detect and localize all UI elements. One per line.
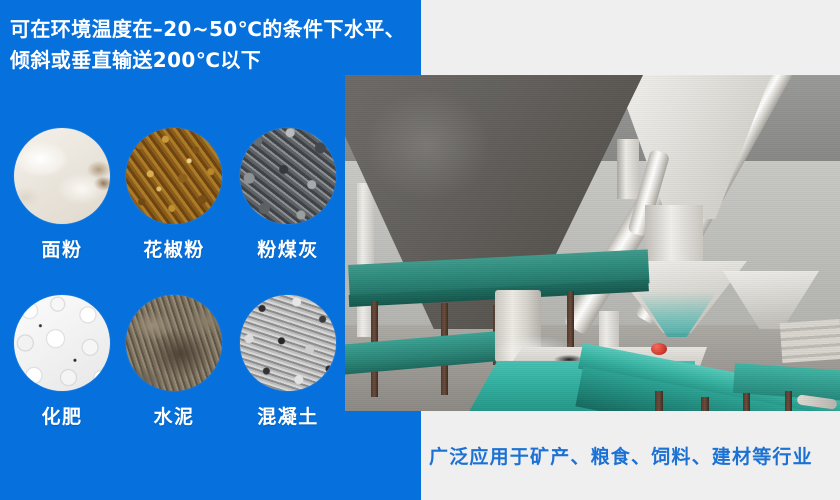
- material-item-fly-ash[interactable]: 粉煤灰: [232, 128, 344, 262]
- support-leg: [743, 393, 750, 411]
- material-item-pepper-powder[interactable]: 花椒粉: [118, 128, 230, 262]
- material-label: 粉煤灰: [232, 235, 344, 262]
- material-label: 化肥: [6, 402, 118, 429]
- material-label: 混凝土: [232, 402, 344, 429]
- flour-sample-icon: [14, 128, 110, 224]
- material-item-flour[interactable]: 面粉: [6, 128, 118, 262]
- red-control-knob: [651, 343, 667, 355]
- screw-conveyor-installation-photo: [345, 75, 840, 411]
- material-item-cement[interactable]: 水泥: [118, 295, 230, 429]
- caption-text: 广泛应用于矿产、粮食、饲料、建材等行业: [421, 442, 813, 469]
- headline-line-2: 倾斜或垂直输送200℃以下: [10, 45, 410, 76]
- caption-bar: 广泛应用于矿产、粮食、饲料、建材等行业: [421, 411, 840, 500]
- material-label: 面粉: [6, 235, 118, 262]
- material-grid: 面粉 花椒粉 粉煤灰 化肥 水泥 混凝土: [0, 128, 360, 462]
- material-item-fertilizer[interactable]: 化肥: [6, 295, 118, 429]
- vertical-pipe: [617, 139, 639, 199]
- fly-ash-sample-icon: [240, 128, 336, 224]
- support-leg: [655, 391, 663, 411]
- support-leg: [701, 397, 709, 411]
- material-row-2: 化肥 水泥 混凝土: [0, 295, 360, 462]
- fertilizer-sample-icon: [14, 295, 110, 391]
- support-leg: [785, 391, 792, 411]
- concrete-sample-icon: [240, 295, 336, 391]
- pepper-powder-sample-icon: [126, 128, 222, 224]
- promo-banner: 可在环境温度在–20~50℃的条件下水平、 倾斜或垂直输送200℃以下 面粉 花…: [0, 0, 840, 500]
- cement-sample-icon: [126, 295, 222, 391]
- material-row-1: 面粉 花椒粉 粉煤灰: [0, 128, 360, 295]
- material-item-concrete[interactable]: 混凝土: [232, 295, 344, 429]
- material-label: 花椒粉: [118, 235, 230, 262]
- hopper-neck: [645, 205, 703, 269]
- headline-line-1: 可在环境温度在–20~50℃的条件下水平、: [10, 14, 410, 45]
- stacked-bags: [780, 319, 840, 363]
- headline-text: 可在环境温度在–20~50℃的条件下水平、 倾斜或垂直输送200℃以下: [10, 14, 410, 76]
- material-label: 水泥: [118, 402, 230, 429]
